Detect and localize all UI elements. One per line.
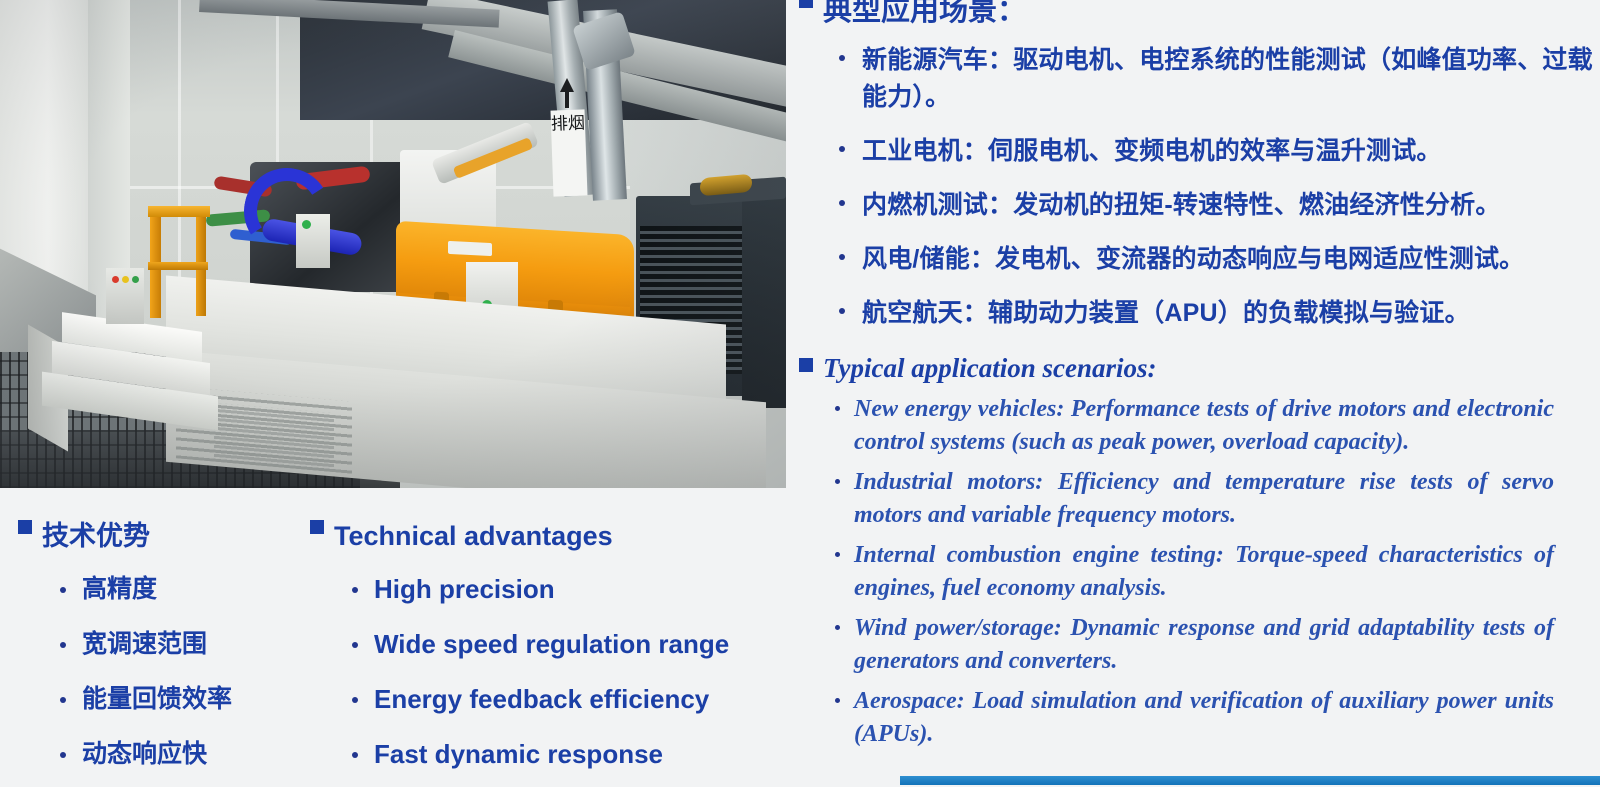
cn-advantages-heading-label: 技术优势 bbox=[42, 520, 150, 552]
photo-vignette bbox=[0, 0, 786, 488]
list-item: 动态响应快 bbox=[60, 739, 300, 769]
list-item: 宽调速范围 bbox=[60, 629, 300, 659]
bullet-dot-icon bbox=[60, 642, 66, 648]
list-item-label: High precision bbox=[374, 574, 555, 604]
list-item: High precision bbox=[352, 574, 780, 604]
bullet-dot-icon bbox=[839, 254, 845, 260]
list-item: 能量回馈效率 bbox=[60, 684, 300, 714]
list-item: 高精度 bbox=[60, 574, 300, 604]
list-item-label: Internal combustion engine testing: Torq… bbox=[854, 539, 1554, 605]
bullet-dot-icon bbox=[839, 146, 845, 152]
en-advantages-list: High precision Wide speed regulation ran… bbox=[310, 574, 780, 769]
list-item-label: Aerospace: Load simulation and verificat… bbox=[854, 685, 1554, 751]
list-item: 内燃机测试：发动机的扭矩-转速特性、燃油经济性分析。 bbox=[839, 187, 1600, 224]
list-item: New energy vehicles: Performance tests o… bbox=[835, 393, 1600, 459]
bullet-dot-icon bbox=[352, 642, 358, 648]
square-bullet-icon bbox=[799, 358, 813, 372]
list-item: 风电/储能：发电机、变流器的动态响应与电网适应性测试。 bbox=[839, 241, 1600, 278]
bullet-dot-icon bbox=[839, 55, 845, 61]
cn-advantages-list: 高精度 宽调速范围 能量回馈效率 动态响应快 bbox=[18, 574, 300, 769]
bullet-dot-icon bbox=[352, 697, 358, 703]
bullet-dot-icon bbox=[352, 587, 358, 593]
bullet-dot-icon bbox=[835, 406, 840, 411]
bullet-dot-icon bbox=[839, 308, 845, 314]
test-cell-photo: 排烟 bbox=[0, 0, 786, 488]
square-bullet-icon bbox=[799, 0, 813, 8]
accent-bar bbox=[900, 776, 1600, 785]
list-item-label: 动态响应快 bbox=[82, 739, 207, 769]
list-item-label: 新能源汽车：驱动电机、电控系统的性能测试（如峰值功率、过载能力）。 bbox=[862, 42, 1600, 116]
list-item-label: New energy vehicles: Performance tests o… bbox=[854, 393, 1554, 459]
bullet-dot-icon bbox=[835, 479, 840, 484]
cn-scenarios-heading: 典型应用场景： bbox=[799, 0, 1600, 28]
list-item-label: Energy feedback efficiency bbox=[374, 684, 709, 714]
list-item-label: Wide speed regulation range bbox=[374, 629, 729, 659]
list-item: Aerospace: Load simulation and verificat… bbox=[835, 685, 1600, 751]
en-advantages-heading-label: Technical advantages bbox=[334, 520, 613, 552]
bullet-dot-icon bbox=[835, 552, 840, 557]
list-item: 新能源汽车：驱动电机、电控系统的性能测试（如峰值功率、过载能力）。 bbox=[839, 42, 1600, 116]
technical-advantages-cn-column: 技术优势 高精度 宽调速范围 能量回馈效率 动态响应快 bbox=[0, 520, 300, 787]
square-bullet-icon bbox=[18, 520, 32, 534]
application-scenarios-panel: 典型应用场景： 新能源汽车：驱动电机、电控系统的性能测试（如峰值功率、过载能力）… bbox=[795, 0, 1600, 787]
list-item-label: Industrial motors: Efficiency and temper… bbox=[854, 466, 1554, 532]
list-item-label: 宽调速范围 bbox=[82, 629, 207, 659]
list-item-label: 工业电机：伺服电机、变频电机的效率与温升测试。 bbox=[862, 133, 1442, 170]
en-scenarios-list: New energy vehicles: Performance tests o… bbox=[795, 393, 1600, 751]
list-item: 工业电机：伺服电机、变频电机的效率与温升测试。 bbox=[839, 133, 1600, 170]
bullet-dot-icon bbox=[60, 587, 66, 593]
list-item-label: Wind power/storage: Dynamic response and… bbox=[854, 612, 1554, 678]
list-item-label: 风电/储能：发电机、变流器的动态响应与电网适应性测试。 bbox=[862, 241, 1524, 278]
bullet-dot-icon bbox=[60, 697, 66, 703]
list-item: Energy feedback efficiency bbox=[352, 684, 780, 714]
en-scenarios-heading-label: Typical application scenarios: bbox=[823, 352, 1156, 384]
technical-advantages-en-column: Technical advantages High precision Wide… bbox=[300, 520, 780, 787]
list-item-label: Fast dynamic response bbox=[374, 739, 663, 769]
cn-scenarios-heading-label: 典型应用场景： bbox=[823, 0, 1026, 28]
cn-advantages-heading: 技术优势 bbox=[18, 520, 300, 552]
square-bullet-icon bbox=[310, 520, 324, 534]
list-item-label: 航空航天：辅助动力装置（APU）的负载模拟与验证。 bbox=[862, 295, 1470, 332]
technical-advantages-panel: 技术优势 高精度 宽调速范围 能量回馈效率 动态响应快 Technica bbox=[0, 520, 790, 787]
list-item: Fast dynamic response bbox=[352, 739, 780, 769]
list-item-label: 能量回馈效率 bbox=[82, 684, 232, 714]
en-advantages-heading: Technical advantages bbox=[310, 520, 780, 552]
list-item-label: 高精度 bbox=[82, 574, 157, 604]
en-scenarios-heading: Typical application scenarios: bbox=[799, 352, 1600, 384]
list-item: Industrial motors: Efficiency and temper… bbox=[835, 466, 1600, 532]
bullet-dot-icon bbox=[835, 698, 840, 703]
bullet-dot-icon bbox=[60, 752, 66, 758]
list-item-label: 内燃机测试：发动机的扭矩-转速特性、燃油经济性分析。 bbox=[862, 187, 1501, 224]
bullet-dot-icon bbox=[839, 200, 845, 206]
list-item: 航空航天：辅助动力装置（APU）的负载模拟与验证。 bbox=[839, 295, 1600, 332]
list-item: Wind power/storage: Dynamic response and… bbox=[835, 612, 1600, 678]
bullet-dot-icon bbox=[835, 625, 840, 630]
bullet-dot-icon bbox=[352, 752, 358, 758]
list-item: Internal combustion engine testing: Torq… bbox=[835, 539, 1600, 605]
cn-scenarios-list: 新能源汽车：驱动电机、电控系统的性能测试（如峰值功率、过载能力）。 工业电机：伺… bbox=[795, 42, 1600, 332]
list-item: Wide speed regulation range bbox=[352, 629, 780, 659]
